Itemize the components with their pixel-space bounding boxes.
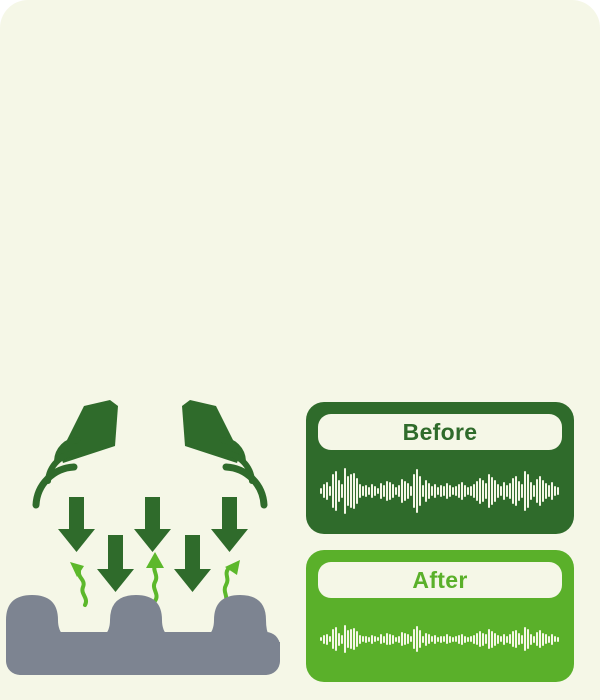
waveform-bar [404, 481, 406, 501]
waveform-bar [434, 484, 436, 498]
waveform-bar [410, 486, 412, 496]
waveform-bar [452, 637, 454, 642]
waveform-bar [338, 633, 340, 646]
waveform-bar [323, 484, 325, 498]
illustration-canvas: Before After [0, 0, 600, 700]
waveform-bar [419, 630, 421, 648]
waveform-bar [326, 634, 328, 645]
waveform-bar [380, 483, 382, 499]
waveform-bar [458, 635, 460, 644]
waveform-bar [401, 479, 403, 503]
incident-arrow-4 [97, 535, 134, 592]
waveform-bar [476, 481, 478, 501]
waveform-bar [518, 481, 520, 501]
before-after-comparison: Before After [306, 402, 574, 682]
reflected-arrow-center [146, 552, 164, 601]
absorber-surface [6, 595, 280, 675]
waveform-bar [521, 635, 523, 644]
waveform-bar [551, 634, 553, 645]
waveform-bar [503, 482, 505, 500]
waveform-bar [512, 478, 514, 504]
waveform-bar [332, 629, 334, 649]
waveform-bar [509, 634, 511, 644]
waveform-bar [473, 484, 475, 498]
waveform-bar [557, 637, 559, 642]
waveform-bar [386, 481, 388, 501]
waveform-bar [371, 484, 373, 498]
waveform-bar [533, 485, 535, 497]
waveform-bar [548, 636, 550, 643]
waveform-bar [374, 486, 376, 496]
waveform-bar [446, 634, 448, 644]
waveform-bar [344, 625, 346, 653]
waveform-bar [422, 636, 424, 643]
waveform-bar [422, 485, 424, 497]
waveform-bar [335, 471, 337, 511]
waveform-bar [509, 483, 511, 499]
waveform-bar [515, 476, 517, 506]
waveform-bar [524, 471, 526, 511]
waveform-bar [425, 480, 427, 502]
waveform-bar [497, 635, 499, 644]
waveform-bar [386, 633, 388, 645]
waveform-bar [500, 486, 502, 496]
waveform-bar [389, 634, 391, 645]
waveform-bar [554, 636, 556, 642]
waveform-bar [491, 631, 493, 648]
waveform-bar [464, 485, 466, 497]
waveform-bar [407, 634, 409, 644]
waveform-bar [506, 485, 508, 497]
waveform-bar [494, 480, 496, 502]
incident-arrow-2 [134, 497, 171, 552]
waveform-bar [479, 478, 481, 504]
waveform-bar [347, 476, 349, 506]
waveform-bar [365, 485, 367, 497]
waveform-bar [353, 628, 355, 650]
waveform-bar [329, 636, 331, 642]
waveform-bar [350, 474, 352, 508]
waveform-bar [491, 477, 493, 505]
speaker-left-icon [36, 400, 118, 505]
waveform-bar [461, 482, 463, 500]
waveform-bar [458, 484, 460, 498]
waveform-bar [449, 485, 451, 497]
waveform-bar [377, 637, 379, 641]
waveform-bar [416, 626, 418, 652]
waveform-bar [362, 486, 364, 496]
waveform-bar [437, 637, 439, 642]
waveform-bar [479, 631, 481, 647]
after-label: After [412, 569, 467, 592]
incident-arrow-1 [58, 497, 95, 552]
waveform-bar [431, 486, 433, 496]
waveform-bar [488, 629, 490, 649]
waveform-bar [320, 637, 322, 641]
waveform-bar [329, 486, 331, 496]
waveform-bar [392, 484, 394, 498]
waveform-bar [542, 480, 544, 502]
waveform-bar [383, 636, 385, 643]
waveform-bar [365, 636, 367, 643]
waveform-bar [461, 634, 463, 645]
waveform-bar [557, 487, 559, 495]
waveform-bar [368, 637, 370, 642]
waveform-bar [413, 474, 415, 508]
waveform-bar [527, 629, 529, 649]
waveform-bar [521, 484, 523, 498]
waveform-bar [533, 636, 535, 643]
reflected-arrow-left [70, 562, 86, 605]
waveform-bar [416, 469, 418, 513]
waveform-bar [377, 488, 379, 494]
waveform-bar [467, 637, 469, 642]
waveform-bar [341, 635, 343, 644]
before-waveform [318, 462, 562, 520]
before-card[interactable]: Before [306, 402, 574, 534]
incident-arrow-5 [174, 535, 211, 592]
waveform-bar [443, 636, 445, 642]
waveform-bar [536, 479, 538, 503]
waveform-bar [506, 636, 508, 643]
waveform-bar [539, 476, 541, 506]
waveform-bar [359, 484, 361, 498]
waveform-bar [470, 636, 472, 642]
waveform-bar [530, 482, 532, 500]
waveform-bar [410, 636, 412, 642]
incident-arrow-3 [211, 497, 248, 552]
waveform-bar [374, 636, 376, 642]
waveform-bar [455, 486, 457, 496]
waveform-bar [383, 485, 385, 497]
waveform-bar [398, 485, 400, 497]
waveform-bar [455, 636, 457, 642]
waveform-bar [431, 636, 433, 642]
waveform-bar [368, 487, 370, 495]
waveform-bar [443, 486, 445, 496]
waveform-bar [353, 473, 355, 509]
waveform-bar [512, 631, 514, 647]
waveform-bar [473, 635, 475, 644]
waveform-bar [551, 482, 553, 500]
waveform-bar [518, 633, 520, 645]
waveform-bar [398, 636, 400, 643]
waveform-bar [404, 633, 406, 645]
waveform-bar [419, 476, 421, 506]
waveform-bar [428, 483, 430, 499]
waveform-bar [332, 474, 334, 508]
waveform-bar [395, 487, 397, 495]
waveform-bar [539, 630, 541, 648]
waveform-bar [482, 633, 484, 646]
waveform-bar [530, 634, 532, 645]
waveform-bar [425, 633, 427, 646]
waveform-bar [428, 634, 430, 644]
waveform-bar [476, 633, 478, 645]
waveform-bar [413, 629, 415, 649]
waveform-bar [545, 483, 547, 499]
waveform-bar [470, 486, 472, 496]
waveform-bar [389, 482, 391, 500]
waveform-bar [488, 474, 490, 508]
waveform-bar [371, 635, 373, 644]
waveform-bar [500, 636, 502, 642]
waveform-bar [440, 636, 442, 643]
waveform-bar [401, 632, 403, 646]
waveform-bar [362, 636, 364, 642]
waveform-bar [359, 635, 361, 644]
acoustic-absorption-diagram [0, 380, 300, 700]
waveform-bar [467, 487, 469, 495]
waveform-bar [323, 635, 325, 644]
waveform-bar [338, 480, 340, 502]
waveform-bar [344, 468, 346, 514]
waveform-bar [341, 484, 343, 498]
waveform-bar [503, 634, 505, 645]
waveform-bar [542, 633, 544, 646]
before-label: Before [403, 421, 478, 444]
waveform-bar [350, 629, 352, 649]
waveform-bar [554, 486, 556, 496]
waveform-bar [356, 478, 358, 504]
waveform-bar [407, 483, 409, 499]
waveform-bar [497, 484, 499, 498]
after-card[interactable]: After [306, 550, 574, 682]
waveform-bar [515, 630, 517, 648]
waveform-bar [320, 488, 322, 494]
after-waveform [318, 610, 562, 668]
waveform-bar [482, 480, 484, 502]
waveform-bar [548, 485, 550, 497]
waveform-bar [437, 487, 439, 495]
waveform-bar [485, 634, 487, 644]
speaker-right-icon [182, 400, 264, 505]
waveform-bar [452, 487, 454, 495]
waveform-bar [485, 483, 487, 499]
waveform-bar [347, 630, 349, 648]
waveform-bar [434, 635, 436, 644]
waveform-bar [335, 627, 337, 651]
before-label-pill: Before [318, 414, 562, 450]
waveform-bar [449, 636, 451, 643]
waveform-bar [380, 634, 382, 644]
after-label-pill: After [318, 562, 562, 598]
waveform-bar [494, 633, 496, 646]
waveform-bar [326, 482, 328, 500]
waveform-bar [464, 636, 466, 643]
waveform-bar [527, 474, 529, 508]
waveform-bar [536, 632, 538, 646]
waveform-bar [446, 483, 448, 499]
waveform-bar [392, 635, 394, 644]
waveform-bar [356, 631, 358, 647]
waveform-bar [395, 637, 397, 642]
waveform-bar [545, 634, 547, 644]
waveform-bar [524, 627, 526, 651]
waveform-bar [440, 485, 442, 497]
